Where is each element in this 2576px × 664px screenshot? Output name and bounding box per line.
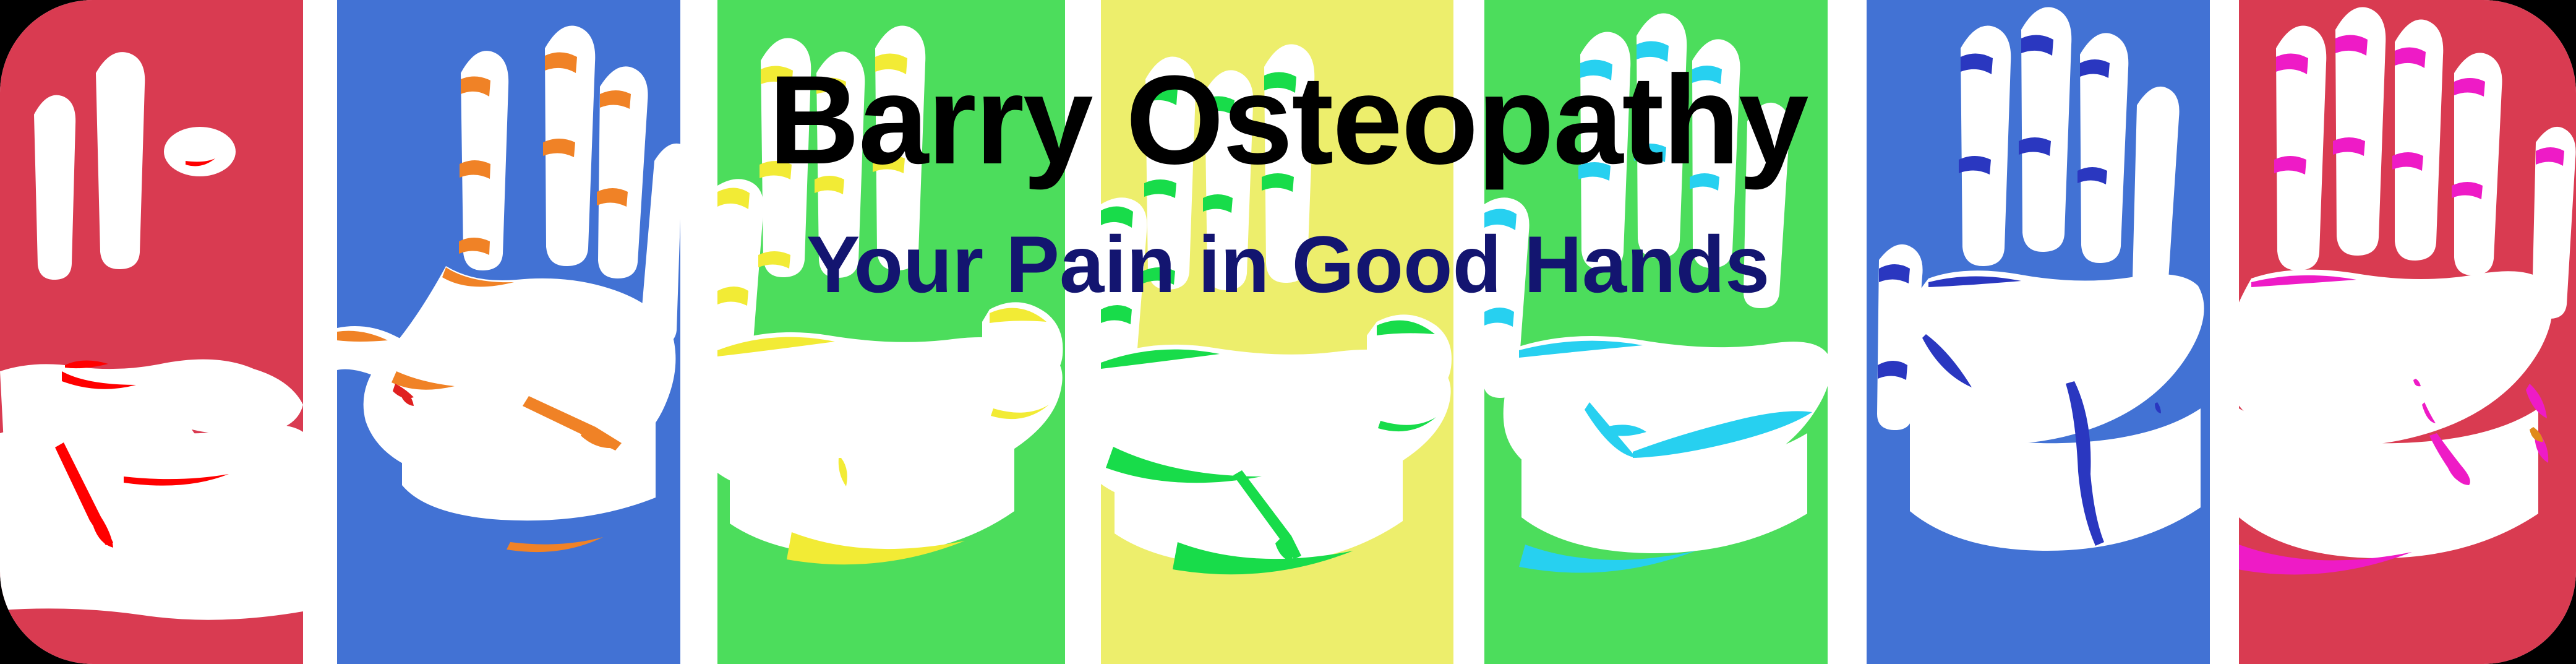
panel-blue-second (337, 0, 680, 664)
panel-red-right (2239, 0, 2576, 664)
banner-root: Barry Osteopathy Your Pain in Good Hands (0, 0, 2576, 664)
handprint-blue (337, 0, 680, 664)
panel-red-left (0, 0, 303, 664)
handprint-blue-dark (1867, 0, 2210, 664)
panel-yellow-center (1101, 0, 1453, 664)
panel-green-fifth (1484, 0, 1828, 664)
handprint-yellow-green (1101, 0, 1453, 664)
panel-blue-sixth (1867, 0, 2210, 664)
handprint-green-cyan (1484, 0, 1828, 664)
handprint-red (0, 0, 303, 664)
handprint-red-magenta (2239, 0, 2576, 664)
panel-green-third (717, 0, 1065, 664)
handprint-green-yellow (717, 0, 1065, 664)
banner-plaque (0, 0, 2576, 664)
